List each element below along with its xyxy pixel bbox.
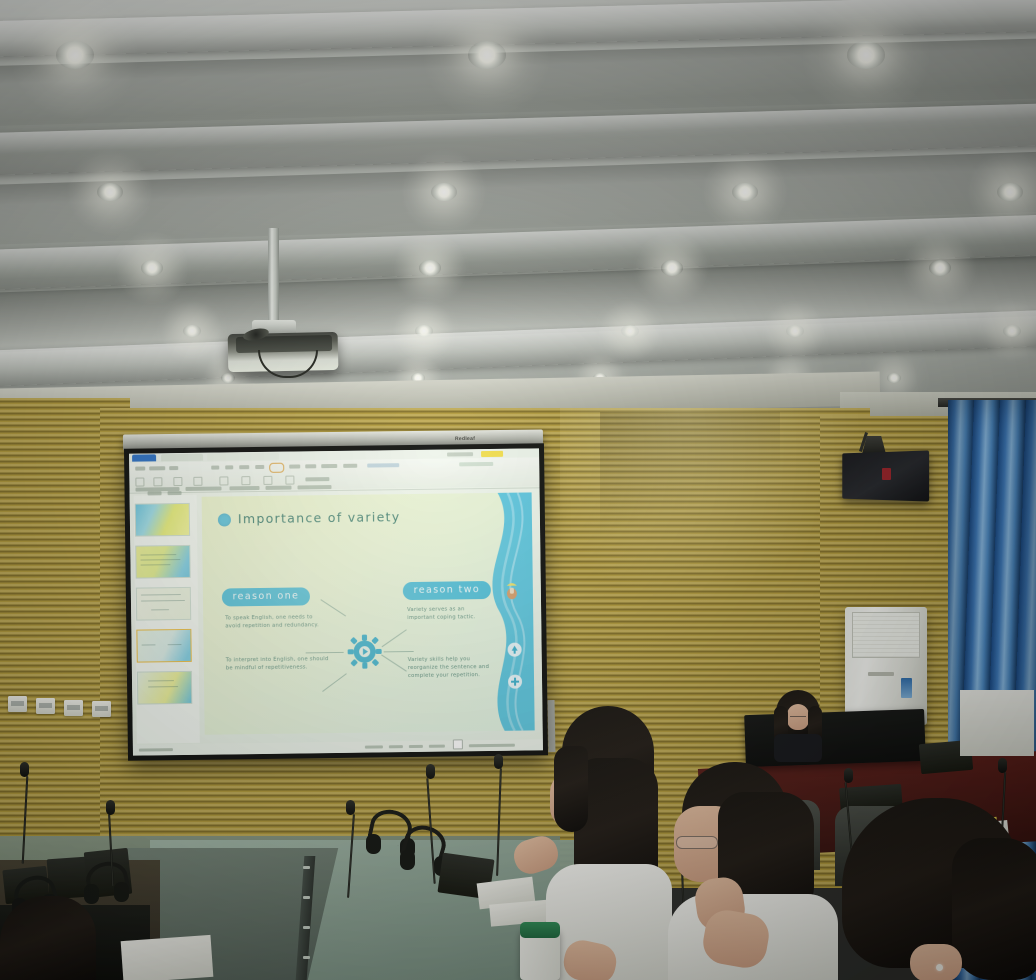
gooseneck-conference-microphone[interactable] bbox=[344, 800, 358, 896]
ribbon-tab[interactable] bbox=[289, 464, 300, 468]
ribbon-icon[interactable] bbox=[153, 477, 162, 486]
slide-thumbnail[interactable] bbox=[136, 587, 191, 621]
reason-one-pill: reason one bbox=[222, 587, 310, 606]
ribbon-tab[interactable] bbox=[367, 463, 399, 467]
recessed-downlight bbox=[221, 373, 235, 383]
recessed-downlight bbox=[431, 183, 457, 202]
air-conditioner-badge bbox=[901, 678, 912, 698]
ribbon-icon[interactable] bbox=[263, 476, 272, 485]
pane-header-label bbox=[168, 491, 182, 495]
recessed-downlight bbox=[661, 260, 683, 276]
ribbon-tab[interactable] bbox=[169, 466, 178, 470]
recessed-downlight bbox=[997, 183, 1023, 202]
circle-icon bbox=[218, 513, 231, 526]
ribbon-icon[interactable] bbox=[219, 476, 228, 485]
tree-icon bbox=[508, 643, 522, 657]
boat-icon bbox=[505, 581, 519, 600]
eyeglasses bbox=[790, 716, 806, 721]
speaker-logo-icon bbox=[882, 468, 891, 480]
attendee-foreground-right bbox=[832, 798, 1036, 980]
wall-power-outlet[interactable] bbox=[92, 701, 111, 717]
projection-screen: Importance of variety reason one reason … bbox=[124, 443, 548, 760]
status-item[interactable] bbox=[365, 745, 383, 748]
connector-arrow bbox=[384, 651, 414, 652]
wall-power-outlet[interactable] bbox=[36, 698, 55, 714]
connector-arrow bbox=[320, 599, 346, 616]
app-logo-tab[interactable] bbox=[132, 454, 156, 461]
ribbon-tab[interactable] bbox=[149, 466, 165, 470]
connector-arrow bbox=[306, 652, 344, 653]
app-highlight-badge bbox=[481, 451, 503, 457]
slide-thumbnail[interactable] bbox=[137, 671, 192, 705]
ribbon-label bbox=[185, 486, 221, 490]
ribbon-account[interactable] bbox=[459, 462, 493, 466]
status-slide-indicator bbox=[139, 748, 173, 751]
recessed-downlight bbox=[468, 41, 506, 68]
recessed-downlight bbox=[929, 260, 951, 276]
recessed-downlight bbox=[887, 373, 901, 383]
recessed-downlight bbox=[97, 183, 123, 202]
status-view-buttons[interactable] bbox=[429, 745, 445, 748]
status-item[interactable] bbox=[389, 745, 403, 748]
gooseneck-conference-microphone[interactable] bbox=[104, 800, 118, 884]
ribbon-icon[interactable] bbox=[173, 477, 182, 486]
ribbon-tab[interactable] bbox=[211, 466, 219, 470]
gooseneck-conference-microphone[interactable] bbox=[18, 762, 32, 862]
ribbon-tab[interactable] bbox=[135, 466, 145, 470]
reason-two-paragraph-2: Variety skills help you reorganize the s… bbox=[408, 655, 496, 681]
reason-two-paragraph-1: Variety serves as an important coping ta… bbox=[407, 605, 491, 623]
attendee-bottom-left bbox=[0, 886, 110, 980]
wall-power-outlet[interactable] bbox=[8, 696, 27, 712]
app-document-tab[interactable] bbox=[207, 453, 279, 461]
operator-back bbox=[772, 690, 824, 760]
ribbon-icon[interactable] bbox=[241, 476, 250, 485]
ribbon-label bbox=[305, 477, 329, 481]
ribbon-tab[interactable] bbox=[255, 465, 264, 469]
slide-title: Importance of variety bbox=[238, 509, 401, 526]
slide-thumbnail-active[interactable] bbox=[136, 629, 191, 663]
ribbon-label bbox=[229, 486, 259, 490]
ear-neck bbox=[910, 944, 962, 980]
ribbon-tab[interactable] bbox=[321, 464, 337, 468]
ribbon-icon[interactable] bbox=[193, 477, 202, 486]
room-photo-scene: Redleaf bbox=[0, 0, 1036, 980]
wall-power-outlet[interactable] bbox=[64, 700, 83, 716]
thermos-cap[interactable] bbox=[520, 922, 560, 938]
recessed-downlight bbox=[847, 41, 885, 68]
connector-arrow bbox=[381, 654, 407, 671]
ribbon-label bbox=[297, 485, 331, 489]
app-document-tab[interactable] bbox=[161, 454, 203, 462]
recessed-downlight bbox=[732, 183, 758, 202]
projected-presentation-app: Importance of variety reason one reason … bbox=[129, 448, 543, 755]
whiteboard-panel bbox=[960, 690, 1034, 756]
air-conditioner-label bbox=[868, 672, 894, 676]
projection-screen-surface: Importance of variety reason one reason … bbox=[129, 448, 543, 755]
status-item[interactable] bbox=[409, 745, 423, 748]
recessed-downlight bbox=[141, 260, 163, 276]
ribbon-tab[interactable] bbox=[239, 465, 249, 469]
pane-header-label bbox=[148, 491, 162, 495]
gooseneck-conference-microphone[interactable] bbox=[424, 764, 438, 882]
connector-arrow bbox=[322, 673, 347, 692]
gooseneck-conference-microphone[interactable] bbox=[492, 754, 506, 874]
ribbon-label bbox=[265, 486, 291, 490]
slide-thumbnail[interactable] bbox=[135, 503, 190, 537]
eyeglasses bbox=[676, 836, 718, 849]
gear-icon bbox=[347, 634, 381, 668]
earring bbox=[936, 964, 943, 971]
reason-one-paragraph-2: To interpret into English, one should be… bbox=[226, 655, 330, 673]
ribbon-tab[interactable] bbox=[305, 464, 316, 468]
air-conditioner-grille bbox=[852, 612, 920, 658]
plus-icon bbox=[508, 675, 522, 689]
app-titlebar-controls[interactable] bbox=[447, 452, 473, 456]
status-zoom-slider[interactable] bbox=[469, 744, 515, 748]
ribbon-icon[interactable] bbox=[135, 477, 144, 486]
screen-brand-label: Redleaf bbox=[455, 436, 475, 442]
projector-mount-pole bbox=[268, 228, 279, 326]
connector-arrow bbox=[382, 629, 407, 647]
ribbon-selected-control[interactable] bbox=[269, 463, 284, 473]
slide-thumbnail[interactable] bbox=[135, 545, 190, 579]
reason-one-paragraph-1: To speak English, one needs to avoid rep… bbox=[225, 613, 321, 631]
slide-canvas[interactable]: Importance of variety reason one reason … bbox=[202, 492, 535, 734]
reason-two-pill: reason two bbox=[403, 581, 491, 600]
attendee-center bbox=[660, 762, 840, 980]
slideshow-button[interactable] bbox=[453, 739, 463, 749]
ribbon-icon[interactable] bbox=[285, 476, 294, 485]
notebook bbox=[121, 935, 214, 980]
ribbon-tab[interactable] bbox=[225, 465, 233, 469]
recessed-downlight bbox=[419, 260, 441, 276]
ribbon-tab[interactable] bbox=[343, 464, 357, 468]
recessed-downlight bbox=[56, 41, 94, 68]
